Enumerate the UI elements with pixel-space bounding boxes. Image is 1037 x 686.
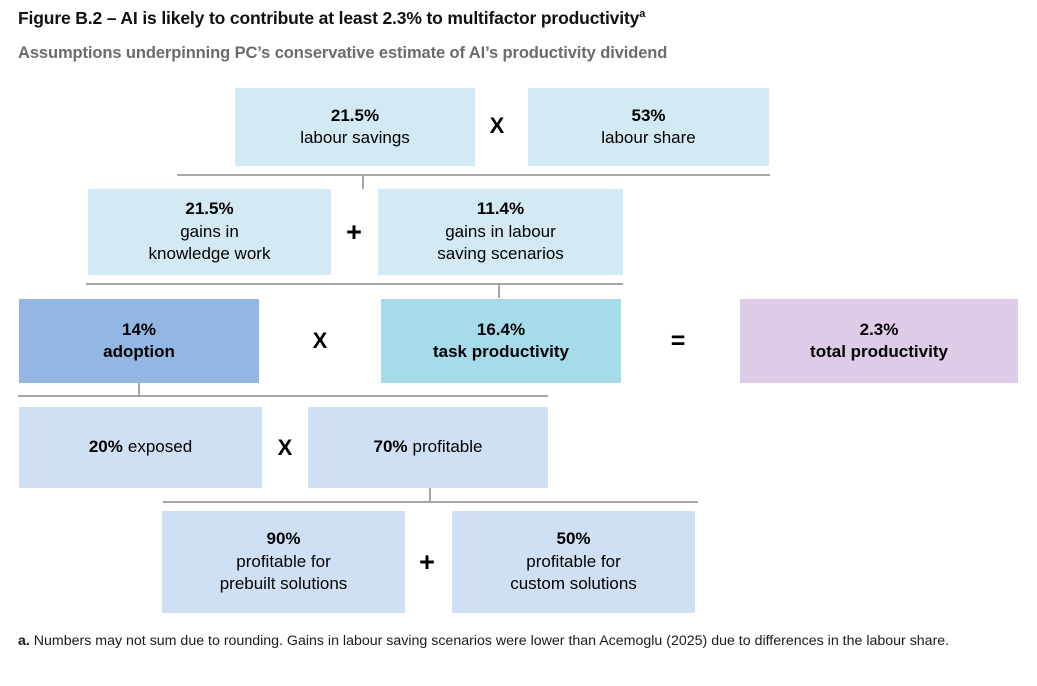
connector-tick-row4-up — [429, 488, 431, 502]
box-custom-solutions-value: 50% — [556, 528, 590, 551]
connector-line-row1 — [177, 174, 770, 176]
box-task-productivity-value: 16.4% — [477, 319, 525, 342]
box-gains-labour-saving-label-line1: gains in labour — [445, 221, 556, 244]
box-prebuilt-solutions-label-line2: prebuilt solutions — [220, 573, 348, 596]
box-gains-knowledge-work-label-line1: gains in — [180, 221, 239, 244]
box-labour-savings-label: labour savings — [300, 127, 410, 150]
operator-equals-row3: = — [660, 329, 696, 353]
operator-multiply-row3: X — [302, 329, 338, 353]
box-total-productivity-value: 2.3% — [860, 319, 899, 342]
operator-plus-row5: + — [409, 549, 445, 575]
box-custom-solutions: 50% profitable for custom solutions — [452, 511, 695, 613]
box-total-productivity-label: total productivity — [810, 341, 948, 364]
box-task-productivity: 16.4% task productivity — [381, 299, 621, 383]
footnote: a. Numbers may not sum due to rounding. … — [18, 630, 1008, 653]
box-prebuilt-solutions-label-line1: profitable for — [236, 551, 331, 574]
operator-plus-row2: + — [336, 219, 372, 245]
figure-diagram: 21.5% labour savings X 53% labour share … — [0, 0, 1037, 686]
connector-line-row3 — [18, 395, 548, 397]
box-gains-knowledge-work: 21.5% gains in knowledge work — [88, 189, 331, 275]
box-labour-savings: 21.5% labour savings — [235, 88, 475, 166]
box-gains-knowledge-work-value: 21.5% — [185, 198, 233, 221]
box-gains-labour-saving-label-line2: saving scenarios — [437, 243, 564, 266]
box-gains-labour-saving-value: 11.4% — [477, 198, 524, 221]
connector-tick-row3-up — [138, 383, 140, 396]
operator-multiply-row4: X — [267, 436, 303, 460]
box-gains-labour-saving: 11.4% gains in labour saving scenarios — [378, 189, 623, 275]
box-custom-solutions-label-line2: custom solutions — [510, 573, 637, 596]
box-prebuilt-solutions-value: 90% — [266, 528, 300, 551]
box-prebuilt-solutions: 90% profitable for prebuilt solutions — [162, 511, 405, 613]
footnote-marker: a. — [18, 633, 30, 649]
box-exposed: 20% exposed — [19, 407, 262, 488]
box-adoption-value: 14% — [122, 319, 156, 342]
box-labour-share: 53% labour share — [528, 88, 769, 166]
box-custom-solutions-label-line1: profitable for — [526, 551, 621, 574]
box-exposed-label: exposed — [128, 436, 192, 459]
box-exposed-value: 20% — [89, 436, 123, 459]
box-profitable-value: 70% — [374, 436, 408, 459]
box-task-productivity-label: task productivity — [433, 341, 569, 364]
box-labour-share-value: 53% — [631, 105, 665, 128]
box-profitable-label: profitable — [413, 436, 483, 459]
connector-tick-row1-down — [362, 174, 364, 189]
box-adoption-label: adoption — [103, 341, 175, 364]
box-labour-share-label: labour share — [601, 127, 696, 150]
connector-tick-row2-down — [498, 283, 500, 298]
box-total-productivity: 2.3% total productivity — [740, 299, 1018, 383]
box-gains-knowledge-work-label-line2: knowledge work — [149, 243, 271, 266]
footnote-text: Numbers may not sum due to rounding. Gai… — [30, 633, 949, 649]
box-adoption: 14% adoption — [19, 299, 259, 383]
connector-line-row2 — [86, 283, 623, 285]
box-labour-savings-value: 21.5% — [331, 105, 379, 128]
operator-multiply-row1: X — [479, 114, 515, 138]
box-profitable: 70% profitable — [308, 407, 548, 488]
